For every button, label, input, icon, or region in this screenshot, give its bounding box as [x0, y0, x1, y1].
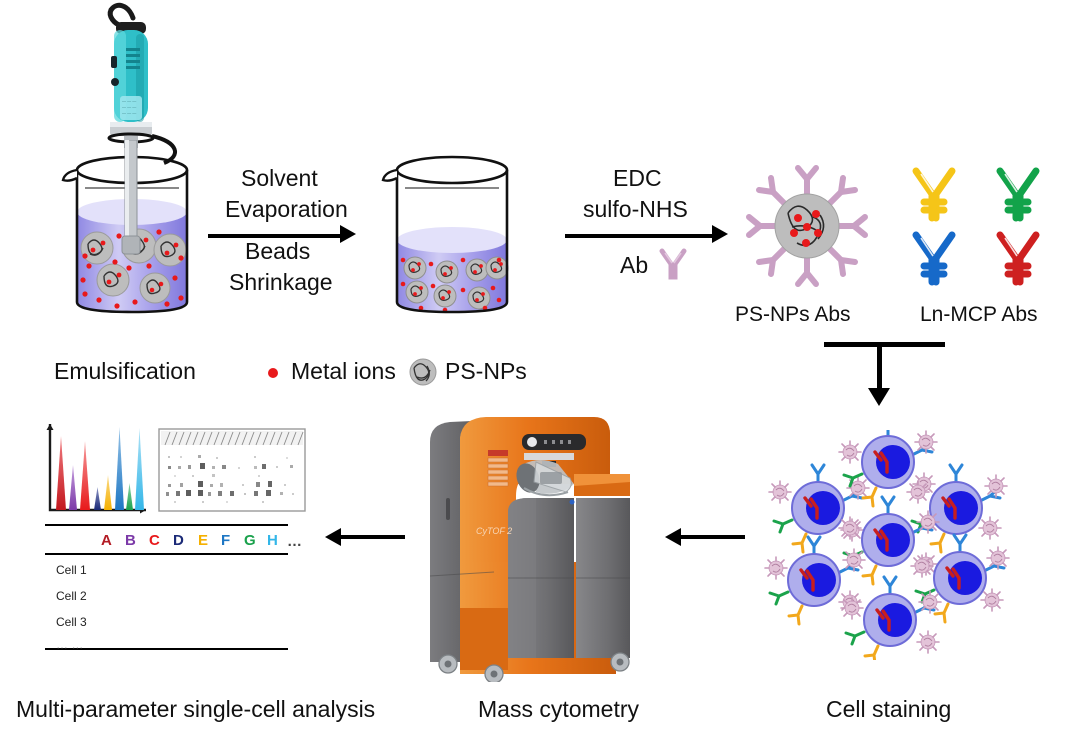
arrow1-label-line4: Shrinkage [229, 269, 333, 296]
svg-text:— — —: — — — [122, 104, 136, 109]
arrow-edc-coupling-head [712, 225, 728, 243]
ln-mcp-abs-group [908, 166, 1058, 288]
arrow-to-analysis [340, 535, 405, 539]
emulsification-label: Emulsification [54, 358, 196, 385]
arrow-to-cytometer [680, 535, 745, 539]
arrow2-label-line1: EDC [613, 165, 662, 192]
antibody-join-bar [824, 342, 945, 347]
arrow-to-staining-stem [877, 345, 882, 390]
heatmap-panel [158, 428, 306, 512]
beaker-emulsification [55, 140, 210, 322]
table-col-E: E [198, 532, 208, 549]
table-col-D: D [173, 532, 184, 549]
table-row-cell1: Cell 1 [56, 563, 87, 577]
table-row-cell2: Cell 2 [56, 589, 87, 603]
caption-analysis: Multi-parameter single-cell analysis [16, 696, 375, 723]
ps-nps-abs-conjugate [742, 165, 872, 290]
table-rule-header [45, 553, 288, 555]
arrow-solvent-evaporation-head [340, 225, 356, 243]
stained-cells-cluster [740, 430, 1060, 660]
arrow-to-analysis-head [325, 528, 341, 546]
arrow1-label-line1: Solvent [241, 165, 318, 192]
antibody-icon-ab [658, 248, 688, 280]
table-col-H: H [267, 532, 278, 549]
caption-cytometry: Mass cytometry [478, 696, 639, 723]
mass-spectrum-chart [42, 418, 152, 520]
table-col-A: A [101, 532, 112, 549]
table-col-B: B [125, 532, 136, 549]
svg-text:— — —: — — — [122, 98, 136, 103]
arrow1-label-line2: Evaporation [225, 196, 348, 223]
arrow-to-cytometer-head [665, 528, 681, 546]
table-col-G: G [244, 532, 256, 549]
table-rule-top [45, 524, 288, 526]
ln-mcp-abs-label: Ln-MCP Abs [920, 303, 1038, 327]
arrow1-label-line3: Beads [245, 238, 310, 265]
table-col-F: F [221, 532, 230, 549]
ps-nps-marker-icon [409, 358, 437, 386]
table-col-ellipsis: … [287, 533, 302, 550]
arrow-to-staining-head [868, 388, 890, 406]
ps-nps-legend-label: PS-NPs [445, 358, 527, 385]
table-row-ellipsis: … … [56, 638, 83, 652]
arrow-edc-coupling [565, 234, 715, 238]
ps-nps-abs-label: PS-NPs Abs [735, 303, 851, 327]
arrow2-label-line2: sulfo-NHS [583, 196, 688, 223]
mass-cytometer-instrument: CyTOF 2 [424, 412, 634, 682]
arrow2-label-ab: Ab [620, 252, 648, 279]
metal-ions-marker-icon [268, 368, 278, 378]
instrument-model-text: CyTOF 2 [476, 526, 512, 536]
metal-ions-legend-label: Metal ions [291, 358, 396, 385]
caption-staining: Cell staining [826, 696, 951, 723]
beaker-shrunken-beads [375, 140, 530, 322]
svg-text:— — —: — — — [122, 110, 136, 115]
spectrum-peaks [56, 427, 144, 510]
table-row-cell3: Cell 3 [56, 615, 87, 629]
cell [841, 577, 941, 660]
table-col-C: C [149, 532, 160, 549]
